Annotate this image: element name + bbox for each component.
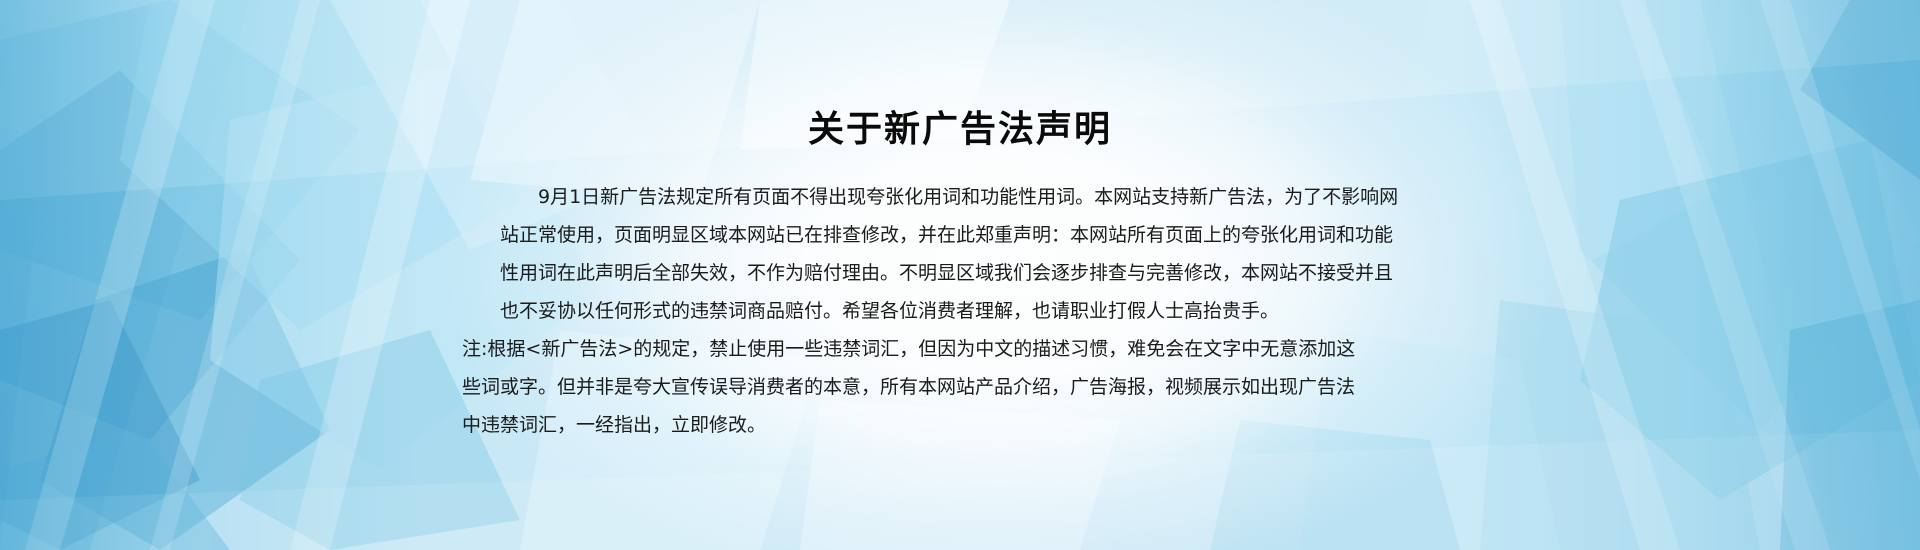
text-line: 性用词在此声明后全部失效，不作为赔付理由。不明显区域我们会逐步排查与完善修改，本… [462,254,1442,292]
paragraph-note: 注:根据<新广告法>的规定，禁止使用一些违禁词汇，但因为中文的描述习惯，难免会在… [462,330,1442,444]
page-title: 关于新广告法声明 [0,108,1920,152]
banner-content: 关于新广告法声明 9月1日新广告法规定所有页面不得出现夸张化用词和功能性用词。本… [0,0,1920,550]
text-line: 站正常使用，页面明显区域本网站已在排查修改，并在此郑重声明：本网站所有页面上的夸… [462,216,1442,254]
paragraph-statement: 9月1日新广告法规定所有页面不得出现夸张化用词和功能性用词。本网站支持新广告法，… [462,178,1442,330]
statement-body: 9月1日新广告法规定所有页面不得出现夸张化用词和功能性用词。本网站支持新广告法，… [462,178,1442,444]
text-line: 9月1日新广告法规定所有页面不得出现夸张化用词和功能性用词。本网站支持新广告法，… [462,178,1442,216]
text-line: 些词或字。但并非是夸大宣传误导消费者的本意，所有本网站产品介绍，广告海报，视频展… [462,368,1442,406]
text-line: 也不妥协以任何形式的违禁词商品赔付。希望各位消费者理解，也请职业打假人士高抬贵手… [462,292,1442,330]
banner-stage: 关于新广告法声明 9月1日新广告法规定所有页面不得出现夸张化用词和功能性用词。本… [0,0,1920,550]
text-line: 注:根据<新广告法>的规定，禁止使用一些违禁词汇，但因为中文的描述习惯，难免会在… [462,330,1442,368]
text-line: 中违禁词汇，一经指出，立即修改。 [462,406,1442,444]
